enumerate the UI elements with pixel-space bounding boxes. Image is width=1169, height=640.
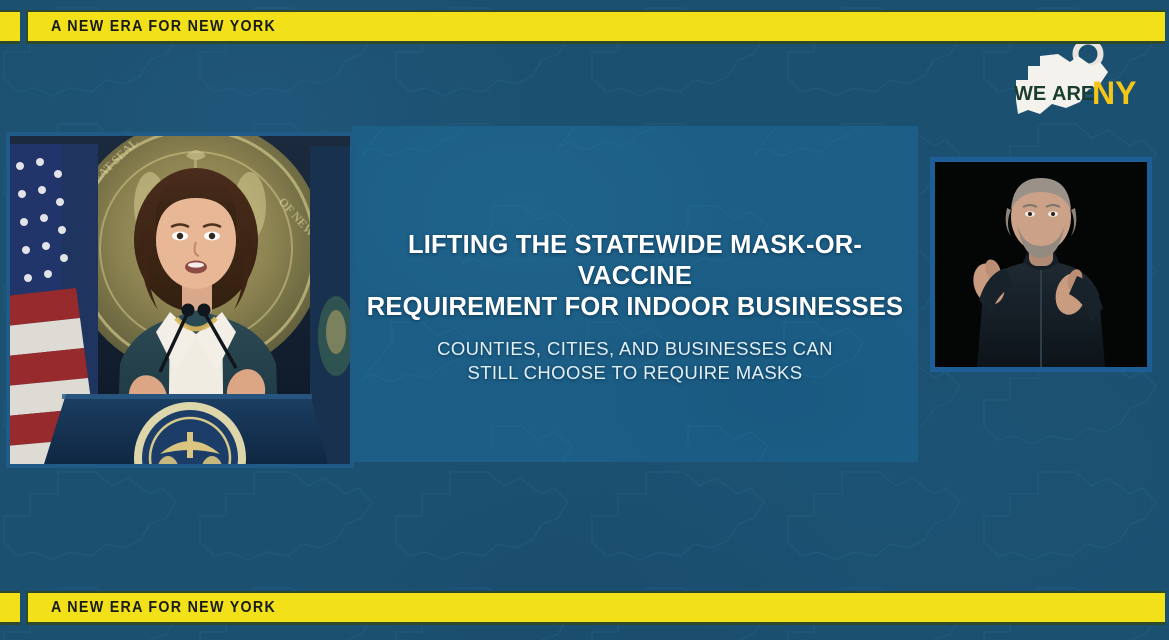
- slide-subhead: COUNTIES, CITIES, AND BUSINESSES CAN STI…: [352, 337, 918, 385]
- slide-subhead-line2: STILL CHOOSE TO REQUIRE MASKS: [372, 361, 898, 385]
- ticker-top-label: A NEW ERA FOR NEW YORK: [51, 18, 276, 36]
- logo-are-text: ARE: [1052, 83, 1094, 105]
- ticker-bottom: A NEW ERA FOR NEW YORK: [0, 591, 1169, 625]
- slide-headline: LIFTING THE STATEWIDE MASK-OR-VACCINE RE…: [352, 230, 918, 323]
- logo-ny-text: NY: [1092, 75, 1136, 111]
- ticker-top-bar: A NEW ERA FOR NEW YORK: [26, 10, 1165, 44]
- slide-panel: LIFTING THE STATEWIDE MASK-OR-VACCINE RE…: [352, 126, 918, 462]
- logo-we-text: WE: [1014, 83, 1046, 105]
- ticker-bottom-cap: [0, 591, 20, 625]
- slide-subhead-line1: COUNTIES, CITIES, AND BUSINESSES CAN: [372, 337, 898, 361]
- slide-text-block: LIFTING THE STATEWIDE MASK-OR-VACCINE RE…: [352, 230, 918, 385]
- speaker-video-feed: GREAT SEAL OF NEW YORK: [6, 132, 354, 468]
- ticker-bottom-bar: A NEW ERA FOR NEW YORK: [26, 591, 1165, 625]
- we-are-ny-logo: WE ARE NY: [1000, 38, 1148, 128]
- ticker-top: A NEW ERA FOR NEW YORK: [0, 10, 1169, 44]
- interpreter-video-feed: [930, 157, 1152, 372]
- slide-headline-line1: LIFTING THE STATEWIDE MASK-OR-VACCINE: [364, 230, 906, 292]
- broadcast-screen: A NEW ERA FOR NEW YORK LIFTING THE STATE…: [0, 0, 1169, 640]
- slide-headline-line2: REQUIREMENT FOR INDOOR BUSINESSES: [364, 292, 906, 323]
- ticker-top-cap: [0, 10, 20, 44]
- ticker-bottom-label: A NEW ERA FOR NEW YORK: [51, 599, 276, 617]
